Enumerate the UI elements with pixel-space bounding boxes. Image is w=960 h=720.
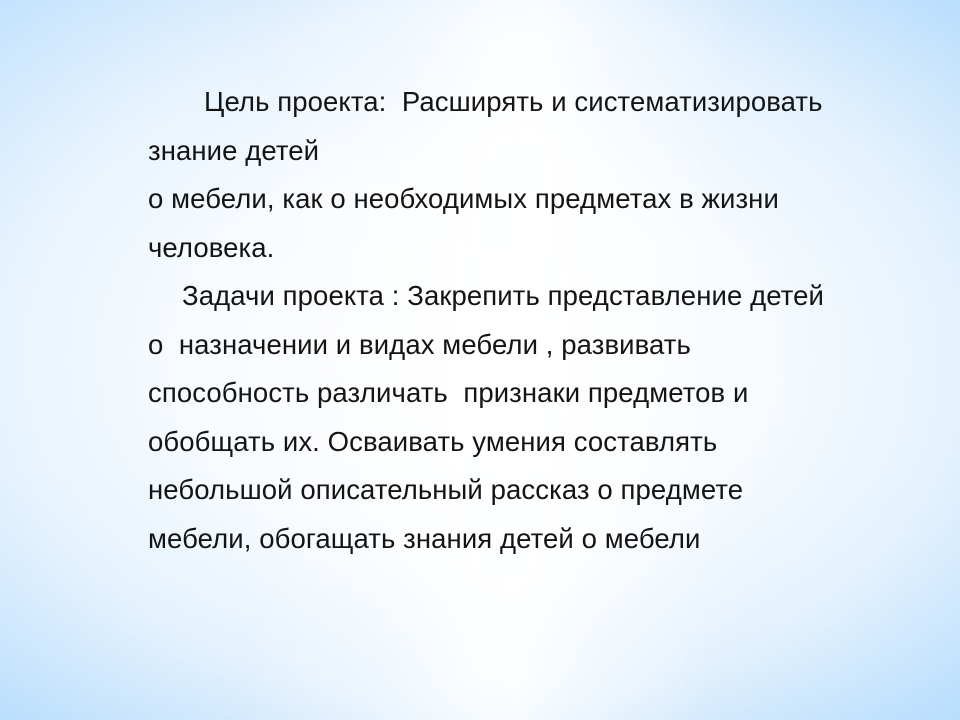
slide-text-body: Цель проекта: Расширять и систематизиров… xyxy=(148,78,828,563)
paragraph-project-goal: Цель проекта: Расширять и систематизиров… xyxy=(148,78,828,272)
presentation-slide: Цель проекта: Расширять и систематизиров… xyxy=(0,0,960,720)
paragraph-project-tasks: Задачи проекта : Закрепить представление… xyxy=(148,272,828,563)
